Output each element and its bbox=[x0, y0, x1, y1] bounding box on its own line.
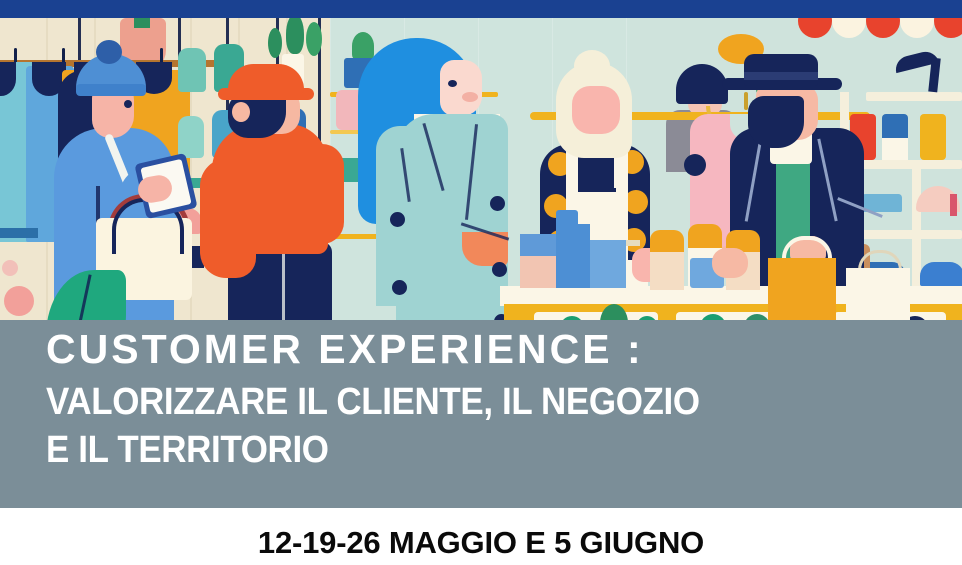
counter-jar-base bbox=[650, 248, 684, 290]
plant-leaf bbox=[134, 18, 150, 28]
shopper-left-beanie-band bbox=[76, 84, 146, 96]
title-line-2: VALORIZZARE IL CLIENTE, IL NEGOZIO bbox=[46, 380, 874, 424]
poster-canvas: CUSTOMER EXPERIENCE : VALORIZZARE IL CLI… bbox=[0, 0, 962, 565]
shopkeeper-apron-pocket bbox=[578, 152, 616, 192]
shopper-orange-ear bbox=[232, 102, 250, 122]
shopkeeper-face bbox=[572, 86, 620, 134]
plant-leaf bbox=[268, 28, 282, 58]
title-line-1: CUSTOMER EXPERIENCE : bbox=[46, 326, 946, 372]
shopper-orange-sleeve bbox=[300, 144, 344, 244]
counter-jar-lid bbox=[650, 230, 684, 252]
white-shopping-bag bbox=[846, 268, 910, 322]
counter-box-blue3 bbox=[590, 240, 626, 288]
counter-box-peach bbox=[520, 254, 556, 288]
shopper-hatman-hat-band bbox=[744, 72, 818, 80]
shopper-bluehair-eye bbox=[448, 80, 457, 87]
floor-dot bbox=[2, 260, 18, 276]
coat-button bbox=[390, 212, 405, 227]
coat-button bbox=[490, 196, 505, 211]
shelf-box-cream bbox=[882, 138, 908, 160]
product-bottle bbox=[178, 48, 206, 92]
shopper-orange-cap bbox=[228, 64, 304, 94]
shopper-hatman-beard bbox=[748, 96, 804, 148]
shoe-pink-heel-stem bbox=[950, 194, 957, 216]
yellow-shopping-bag bbox=[768, 258, 836, 322]
plant-leaf bbox=[352, 32, 374, 60]
coat-button bbox=[392, 280, 407, 295]
plant-leaf bbox=[286, 18, 304, 54]
shopper-left-beanie-pom bbox=[96, 40, 122, 64]
hand-on-counter bbox=[712, 248, 748, 278]
counter-box-blue2 bbox=[556, 224, 590, 288]
shopper-hatman-hat-crown bbox=[744, 54, 818, 86]
garment-hem bbox=[0, 228, 38, 238]
counter-jar-lid bbox=[688, 224, 722, 248]
shopper-bluehair-face bbox=[440, 60, 482, 116]
event-dates: 12-19-26 MAGGIO E 5 GIUGNO bbox=[0, 525, 962, 561]
counter-box-top bbox=[556, 210, 578, 228]
shoe-blue-loafer-2 bbox=[920, 262, 962, 286]
product-bottle bbox=[178, 116, 204, 158]
shopkeeper-bun bbox=[574, 50, 610, 82]
plant-leaf bbox=[306, 22, 322, 56]
shopper-orange-arm bbox=[200, 158, 256, 278]
coat-button bbox=[492, 262, 507, 277]
shirt-button-dot bbox=[684, 154, 706, 176]
title-line-3: E IL TERRITORIO bbox=[46, 428, 874, 472]
top-blue-bar bbox=[0, 0, 962, 18]
shelf-box-yellow bbox=[920, 114, 946, 160]
shopper-left-eye bbox=[124, 100, 132, 108]
shopper-bluehair-blush bbox=[462, 92, 478, 102]
floor-dot bbox=[4, 286, 34, 316]
shop-illustration bbox=[0, 18, 962, 322]
counter-box-blue bbox=[520, 234, 556, 256]
shoe-shelf-board bbox=[866, 92, 962, 101]
shopper-orange-pants-seam bbox=[282, 254, 285, 322]
